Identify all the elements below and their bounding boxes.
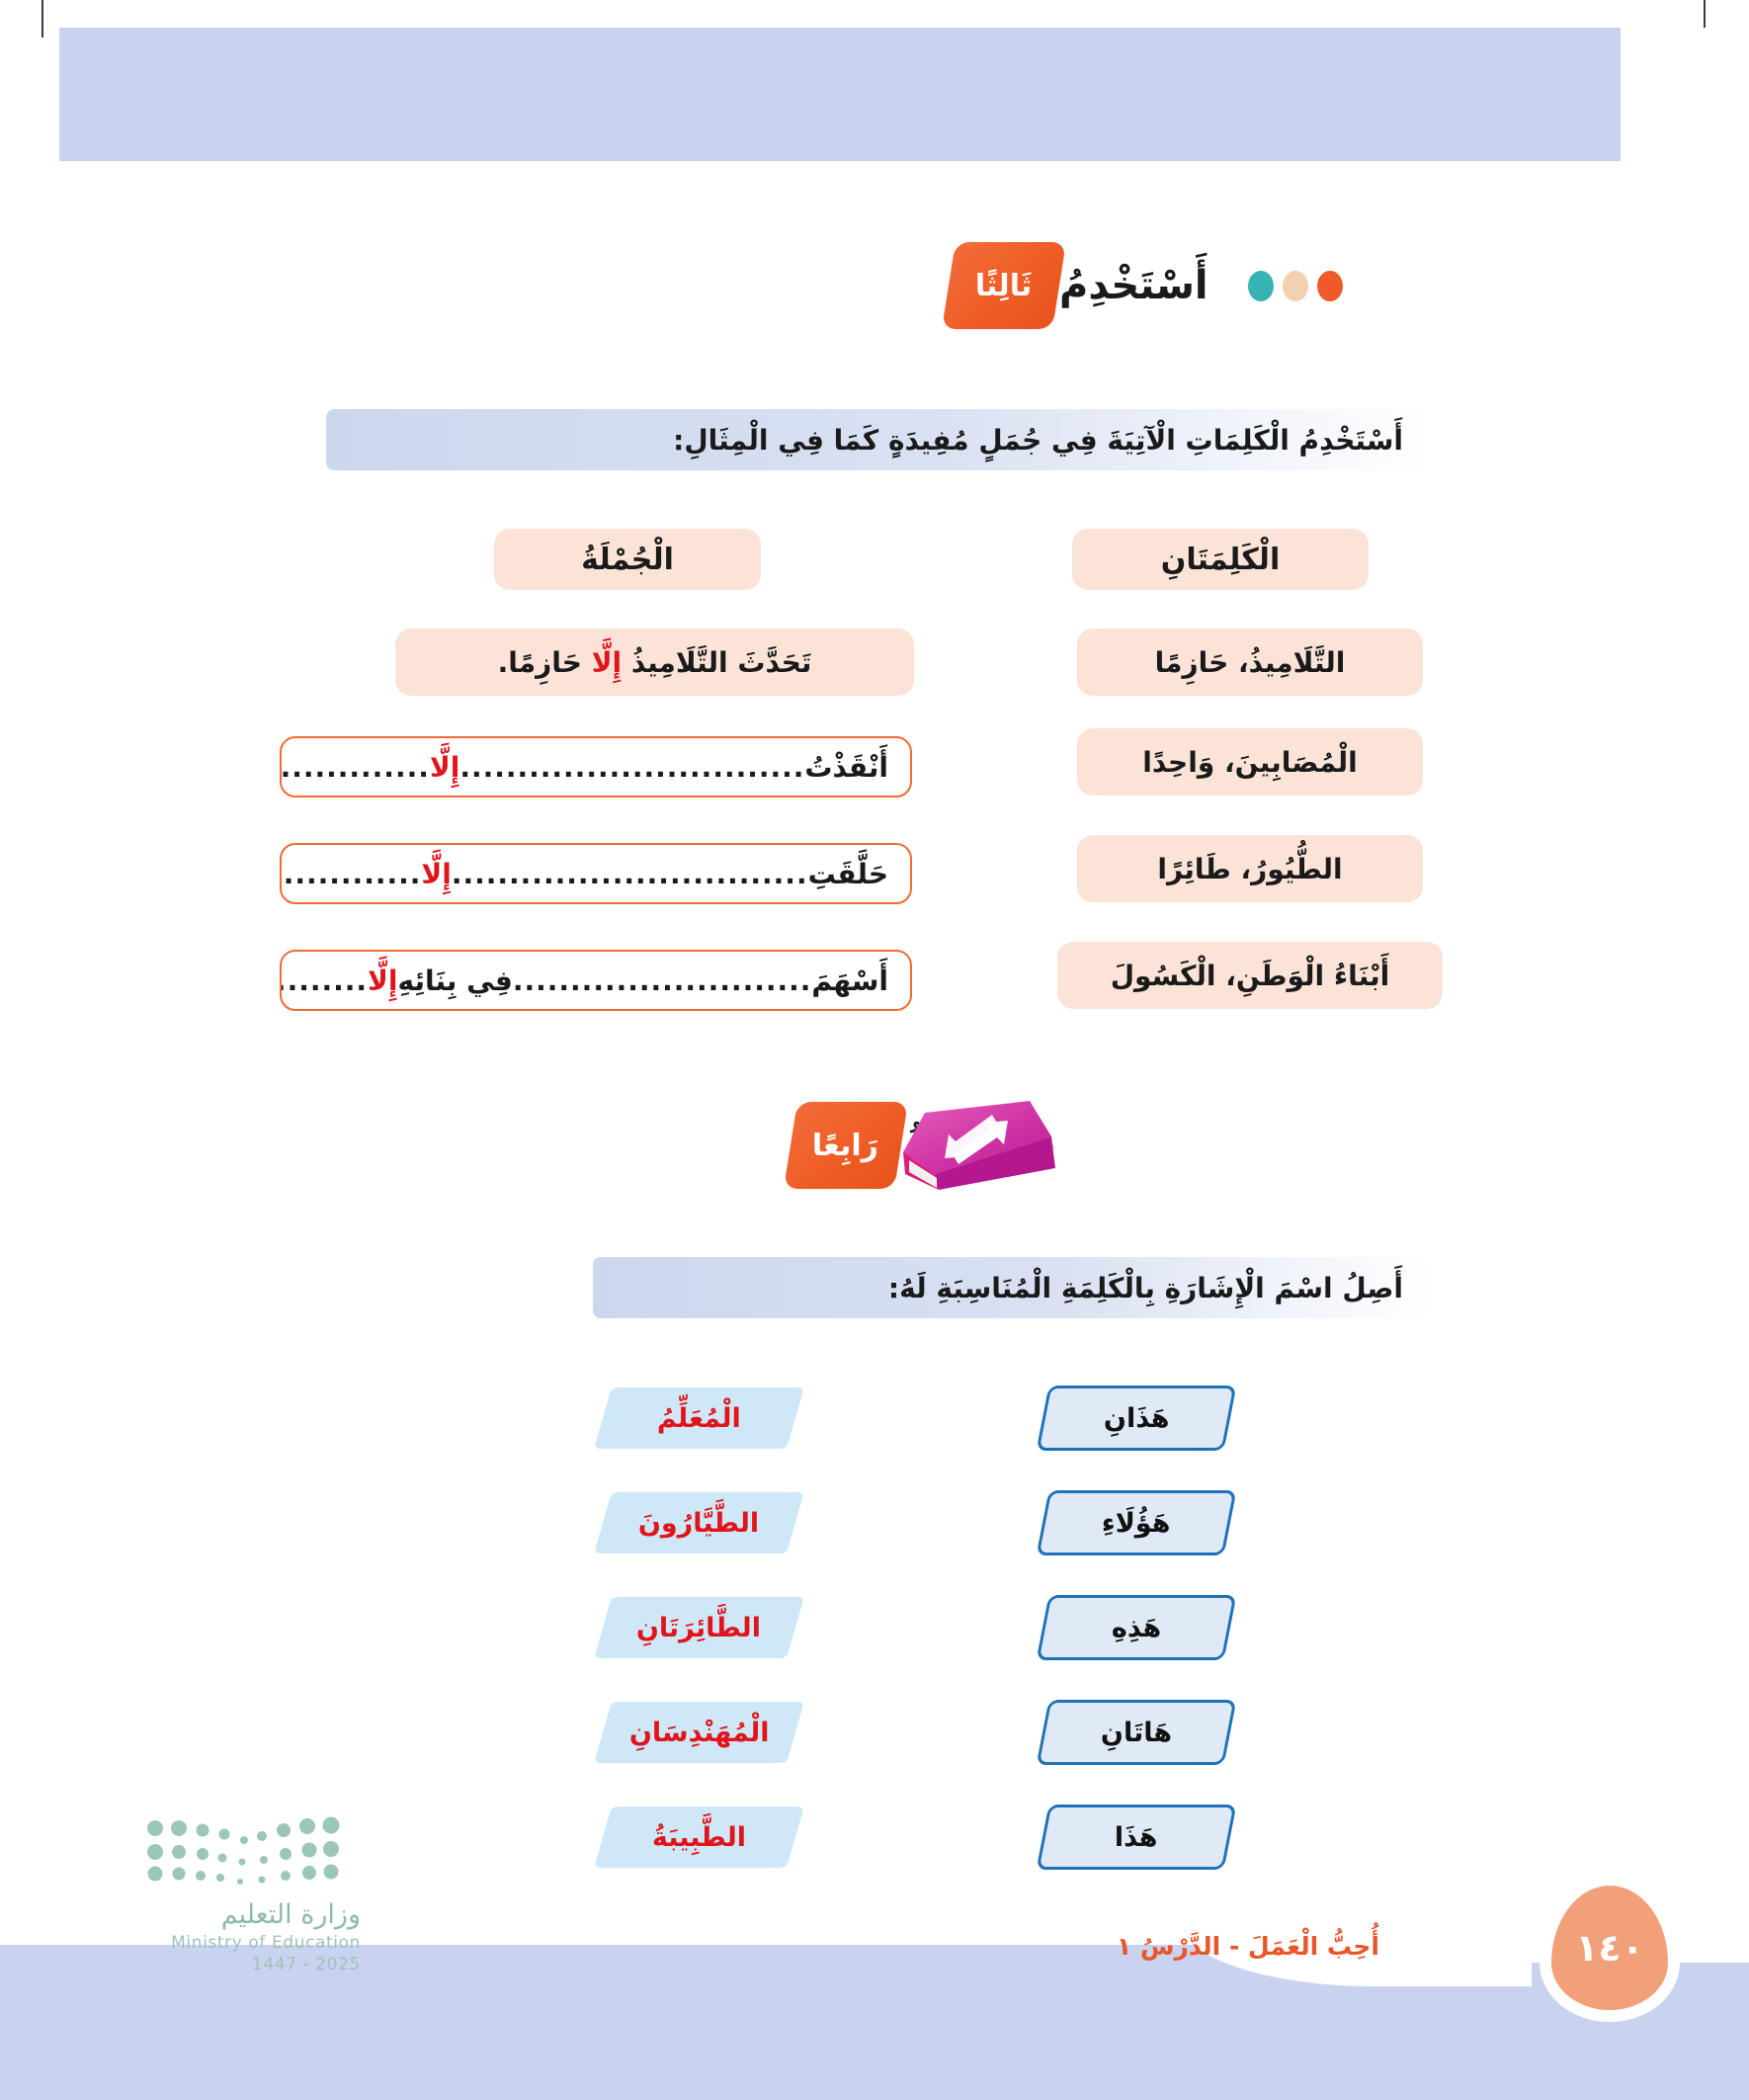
section4-tag: رَابِعًا	[784, 1102, 908, 1189]
noun-label: الطَّائِرَتَانِ	[636, 1613, 761, 1643]
ministry-logo: وزارة التعليم Ministry of Education 2025…	[94, 1816, 361, 1974]
textbook-page: أَسْتَخْدِمُ ثَالِثًا أَسْتَخْدِمُ الْكَ…	[0, 0, 1749, 2100]
table-row: التَّلَامِيذُ، حَازِمًا	[1077, 629, 1423, 696]
ministry-name-ar: وزارة التعليم	[94, 1899, 361, 1930]
answer-dots-1: ...............................	[452, 858, 808, 890]
answer-dots-2: ...............................	[280, 858, 421, 890]
answer-highlight: إِلَّا	[421, 858, 451, 890]
answer-blank-row[interactable]: حَلَّقَتِ ..............................…	[280, 843, 912, 904]
demonstrative-label: هَذِهِ	[1112, 1613, 1161, 1643]
ministry-name-en: Ministry of Education	[94, 1933, 361, 1953]
book-swap-icon	[881, 1091, 1069, 1200]
column-header-words: الْكَلِمَتَانِ	[1072, 529, 1369, 590]
answer-dots-2: ...............................	[280, 751, 430, 784]
example-sentence-before: تَحَدَّثَ التَّلَامِيذُ	[631, 646, 812, 679]
noun-label: الطَّبِيبَةُ	[652, 1822, 746, 1853]
demonstrative-item-2[interactable]: هَذِهِ	[1037, 1595, 1237, 1660]
section3-title: أَسْتَخْدِمُ	[1059, 263, 1208, 308]
demonstrative-item-4[interactable]: هَذَا	[1037, 1805, 1237, 1870]
section3-instruction-text: أَسْتَخْدِمُ الْكَلِمَاتِ الْآتِيَةَ فِي…	[673, 424, 1403, 457]
noun-item-2[interactable]: الطَّائِرَتَانِ	[594, 1597, 804, 1658]
word-pair-label: الطُّيُورُ، طَائِرًا	[1157, 853, 1342, 885]
answer-highlight: إِلَّا	[368, 965, 397, 997]
teal-dot	[1248, 271, 1274, 301]
column-header-sentence: الْجُمْلَةُ	[494, 529, 761, 590]
section4-header: أُحَــوِّلُ رَابِعًا	[791, 1102, 1069, 1189]
section4-instruction: أَصِلُ اسْمَ الْإِشَارَةِ بِالْكَلِمَةِ …	[593, 1257, 1433, 1318]
crop-mark-top-left	[42, 0, 43, 38]
word-pair-label: الْمُصَابِينَ، وَاحِدًا	[1142, 746, 1357, 779]
answer-dots-1: ..........................	[513, 965, 812, 997]
answer-prefix: أَسْهَمَ	[811, 965, 888, 997]
column-header-sentence-label: الْجُمْلَةُ	[581, 543, 674, 577]
answer-middle: فِي بِنَائِهِ	[397, 965, 512, 997]
beige-dot	[1283, 271, 1308, 301]
answer-blank-row[interactable]: أَنْقَذْتُ .............................…	[280, 736, 912, 798]
demonstrative-label: هَؤُلَاءِ	[1102, 1508, 1171, 1539]
orange-dot	[1317, 271, 1343, 301]
answer-prefix: أَنْقَذْتُ	[804, 751, 888, 784]
table-row: الْمُصَابِينَ، وَاحِدًا	[1077, 728, 1423, 796]
demonstrative-label: هَذَا	[1115, 1822, 1158, 1853]
noun-label: الطَّيَّارُونَ	[638, 1508, 759, 1539]
section3-tag: ثَالِثًا	[942, 242, 1066, 329]
example-sentence-highlight: إِلَّا	[592, 646, 622, 679]
noun-item-0[interactable]: الْمُعَلِّمُ	[594, 1387, 804, 1449]
demonstrative-item-3[interactable]: هَاتَانِ	[1037, 1700, 1237, 1765]
noun-label: الْمُعَلِّمُ	[657, 1403, 741, 1434]
column-header-words-label: الْكَلِمَتَانِ	[1161, 543, 1280, 577]
answer-prefix: حَلَّقَتِ	[808, 858, 888, 890]
demonstrative-item-1[interactable]: هَؤُلَاءِ	[1037, 1490, 1237, 1555]
noun-label: الْمُهَنْدِسَانِ	[629, 1718, 770, 1748]
noun-item-4[interactable]: الطَّبِيبَةُ	[594, 1806, 804, 1868]
lesson-footer-label: أُحِبُّ الْعَمَلَ - الدَّرْسُ ١	[1117, 1932, 1379, 1961]
section3-tag-label: ثَالِثًا	[975, 269, 1032, 303]
table-row: أَبْنَاءُ الْوَطَنِ، الْكَسُولَ	[1057, 942, 1443, 1009]
top-banner	[59, 28, 1640, 161]
noun-item-1[interactable]: الطَّيَّارُونَ	[594, 1492, 804, 1554]
section3-instruction: أَسْتَخْدِمُ الْكَلِمَاتِ الْآتِيَةَ فِي…	[326, 409, 1433, 470]
word-pair-label: التَّلَامِيذُ، حَازِمًا	[1155, 646, 1346, 679]
example-sentence-after: حَازِمًا.	[498, 646, 582, 679]
section3-header: أَسْتَخْدِمُ ثَالِثًا	[949, 242, 1376, 329]
page-number: ١٤٠	[1551, 1886, 1668, 2010]
example-sentence-cell: تَحَدَّثَ التَّلَامِيذُ إِلَّا حَازِمًا.	[395, 629, 914, 696]
demonstrative-item-0[interactable]: هَذَانِ	[1037, 1386, 1237, 1451]
table-row: الطُّيُورُ، طَائِرًا	[1077, 835, 1423, 902]
page-number-label: ١٤٠	[1575, 1926, 1644, 1970]
section4-tag-label: رَابِعًا	[812, 1129, 878, 1163]
ministry-years: 2025 - 1447	[94, 1955, 361, 1974]
word-pair-label: أَبْنَاءُ الْوَطَنِ، الْكَسُولَ	[1111, 960, 1389, 992]
answer-dots-1: ..............................	[459, 751, 804, 784]
answer-blank-row[interactable]: أَسْهَمَ .......................... فِي …	[280, 950, 912, 1011]
answer-highlight: إِلَّا	[430, 751, 459, 784]
section4-instruction-text: أَصِلُ اسْمَ الْإِشَارَةِ بِالْكَلِمَةِ …	[888, 1272, 1403, 1304]
demonstrative-label: هَاتَانِ	[1101, 1718, 1172, 1748]
example-sentence: تَحَدَّثَ التَّلَامِيذُ إِلَّا حَازِمًا.	[498, 646, 812, 679]
section3-dots	[1248, 271, 1343, 301]
noun-item-3[interactable]: الْمُهَنْدِسَانِ	[594, 1702, 804, 1763]
answer-dots-2: ..............	[280, 965, 368, 997]
top-banner-whitespace	[1621, 28, 1749, 166]
moe-dots-icon	[143, 1816, 361, 1888]
demonstrative-label: هَذَانِ	[1104, 1403, 1170, 1434]
